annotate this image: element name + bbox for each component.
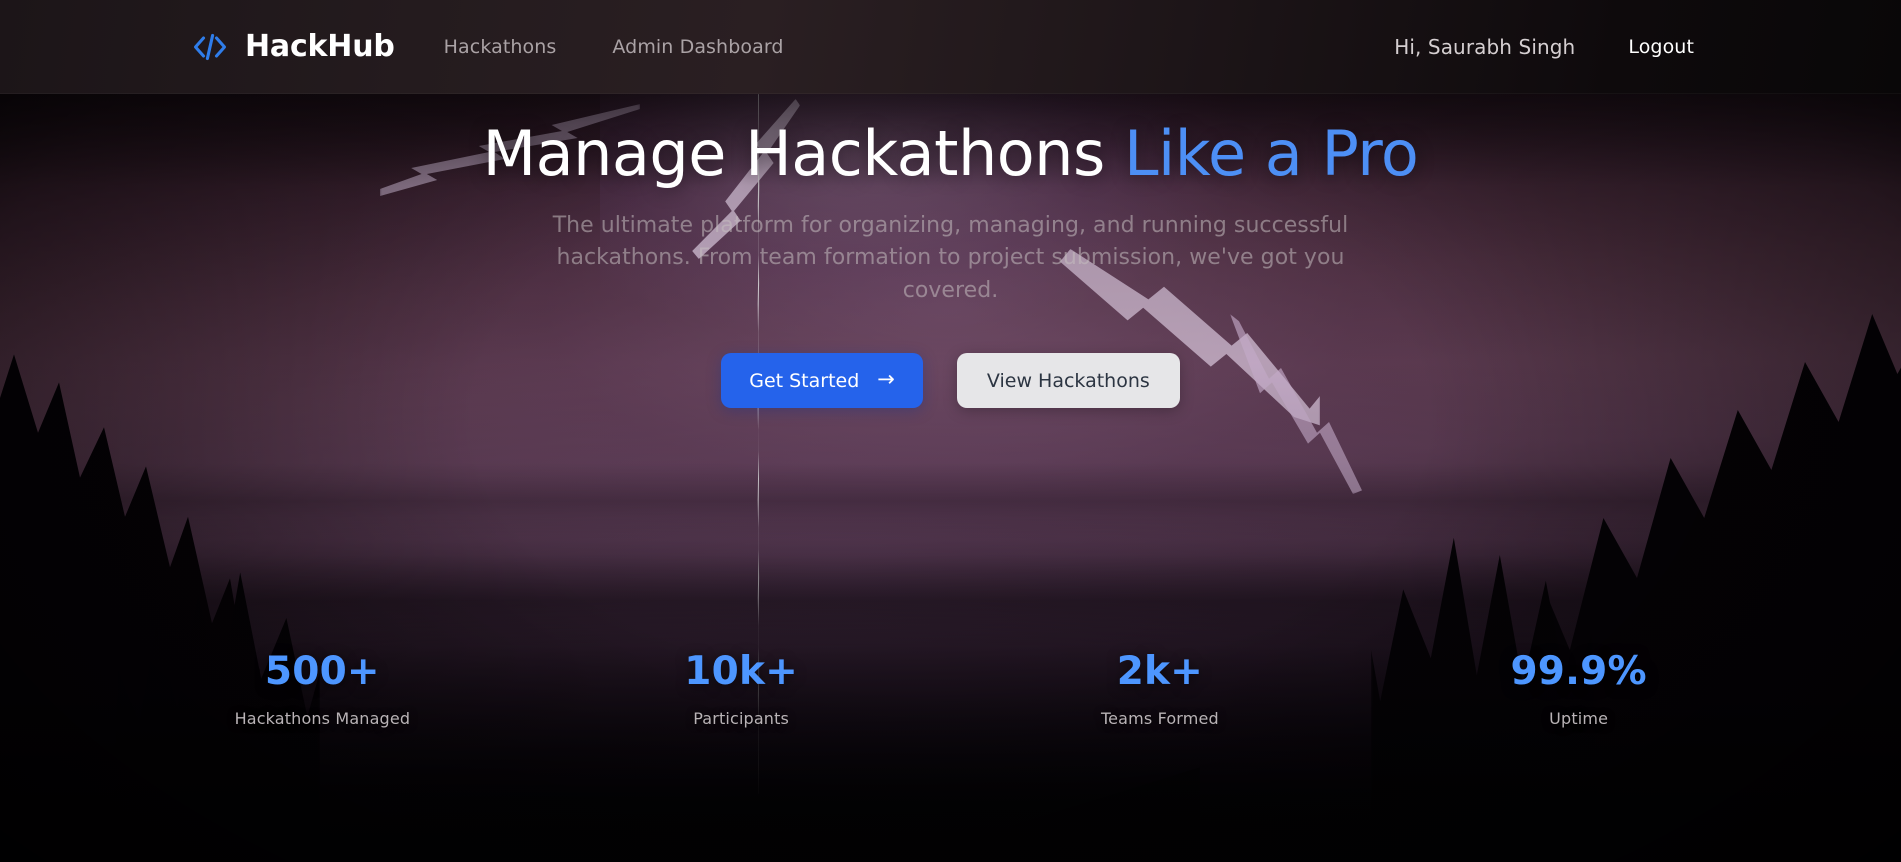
top-navigation-bar: HackHub Hackathons Admin Dashboard Hi, S… <box>0 0 1901 94</box>
primary-nav-links: Hackathons Admin Dashboard <box>444 28 784 66</box>
brand-name: HackHub <box>245 32 395 62</box>
hero-subtitle: The ultimate platform for organizing, ma… <box>516 210 1386 307</box>
navbar-left-section: HackHub Hackathons Admin Dashboard <box>0 28 784 66</box>
hero-section: Manage Hackathons Like a Pro The ultimat… <box>0 94 1901 862</box>
hero-content: Manage Hackathons Like a Pro The ultimat… <box>0 94 1901 862</box>
headline-accent-text: Like a Pro <box>1124 117 1418 190</box>
navbar-right-section: Hi, Saurabh Singh Logout <box>1394 30 1901 64</box>
get-started-button[interactable]: Get Started → <box>721 353 923 408</box>
nav-link-admin-dashboard[interactable]: Admin Dashboard <box>612 28 783 66</box>
arrow-right-icon: → <box>877 369 895 390</box>
page-title: Manage Hackathons Like a Pro <box>483 117 1419 190</box>
user-greeting: Hi, Saurabh Singh <box>1394 35 1575 59</box>
brand-logo[interactable]: HackHub <box>191 30 395 64</box>
hackhub-landing-page: HackHub Hackathons Admin Dashboard Hi, S… <box>0 0 1901 862</box>
view-hackathons-button[interactable]: View Hackathons <box>957 353 1180 408</box>
code-brackets-icon <box>191 30 229 64</box>
logout-button[interactable]: Logout <box>1626 30 1696 64</box>
headline-main-text: Manage Hackathons <box>483 117 1124 190</box>
hero-cta-row: Get Started → View Hackathons <box>721 353 1180 408</box>
get-started-label: Get Started <box>749 370 859 392</box>
nav-link-hackathons[interactable]: Hackathons <box>444 28 557 66</box>
